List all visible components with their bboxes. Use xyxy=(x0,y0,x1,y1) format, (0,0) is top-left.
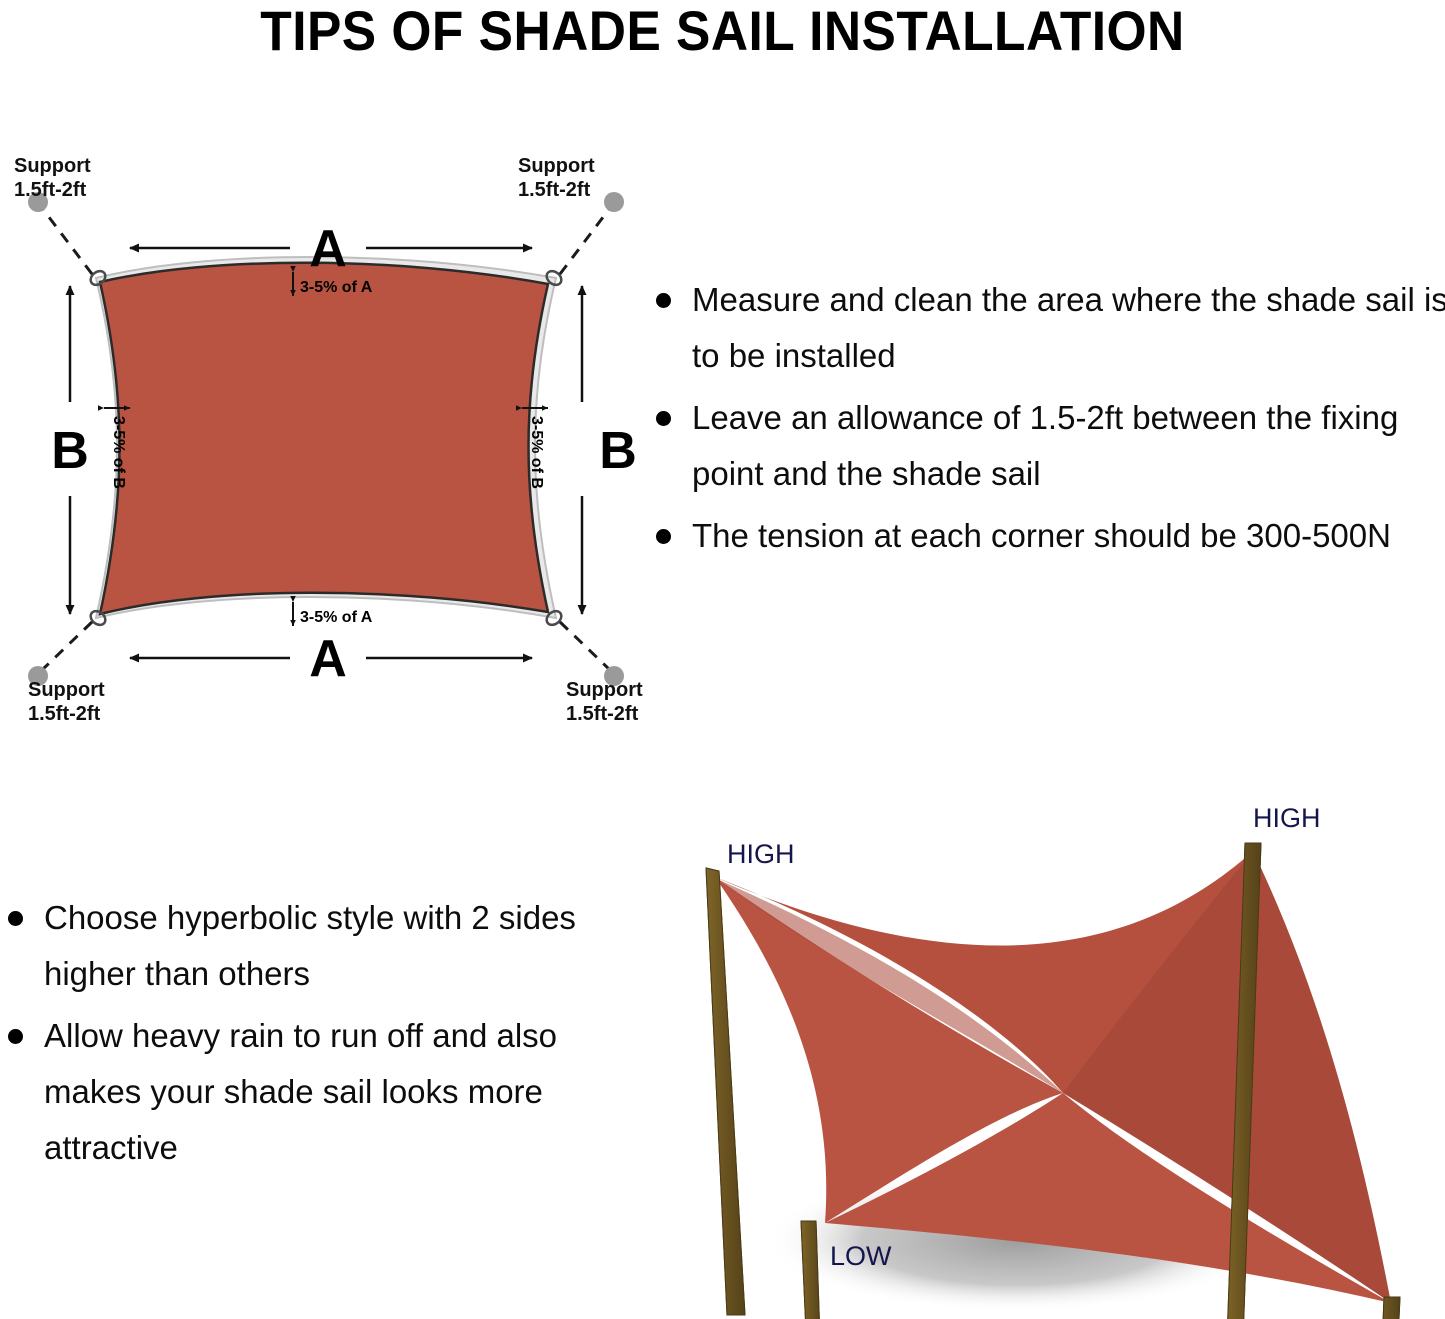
label-high-left: HIGH xyxy=(727,839,795,869)
curve-b-left-annotation: 3-5% of B xyxy=(104,408,130,489)
list-item: Choose hyperbolic style with 2 sides hig… xyxy=(0,890,630,1002)
tips-list-left: Choose hyperbolic style with 2 sides hig… xyxy=(0,890,630,1182)
support-label-line2: 1.5ft-2ft xyxy=(566,703,639,725)
hyperbolic-sail-illustration: HIGH HIGH LOW LOW xyxy=(665,785,1445,1319)
sail-shape xyxy=(96,257,556,618)
tips-list-right: Measure and clean the area where the sha… xyxy=(648,272,1445,570)
dimension-a-bottom-label: A xyxy=(309,630,347,688)
label-low-left: LOW xyxy=(830,1241,892,1271)
support-label-top-left: Support 1.5ft-2ft xyxy=(14,155,91,201)
dimension-a-top-label: A xyxy=(309,220,347,278)
support-dot-top-right xyxy=(604,192,624,212)
post-low-right-front xyxy=(1374,1297,1400,1319)
support-label-top-right: Support 1.5ft-2ft xyxy=(518,155,595,201)
support-label-line1: Support xyxy=(28,679,105,701)
curve-a-bottom-label: 3-5% of A xyxy=(300,609,373,626)
support-label-line2: 1.5ft-2ft xyxy=(28,703,101,725)
dimension-b-left-label: B xyxy=(51,422,89,480)
curve-a-bottom-annotation: 3-5% of A xyxy=(293,602,373,626)
support-label-bottom-left: Support 1.5ft-2ft xyxy=(28,679,105,725)
support-label-bottom-right: Support 1.5ft-2ft xyxy=(566,679,643,725)
support-label-line2: 1.5ft-2ft xyxy=(14,179,87,201)
support-label-line1: Support xyxy=(518,155,595,177)
post-high-left-front xyxy=(706,868,745,1315)
dimension-b-right-label: B xyxy=(599,422,637,480)
shade-sail-dimension-diagram: Support 1.5ft-2ft Support 1.5ft-2ft Supp… xyxy=(0,150,660,730)
list-item: The tension at each corner should be 300… xyxy=(648,508,1445,564)
list-item: Allow heavy rain to run off and also mak… xyxy=(0,1008,630,1176)
page-title: TIPS OF SHADE SAIL INSTALLATION xyxy=(58,0,1387,62)
curve-b-left-label: 3-5% of B xyxy=(110,416,127,489)
list-item: Leave an allowance of 1.5-2ft between th… xyxy=(648,390,1445,502)
support-label-line1: Support xyxy=(14,155,91,177)
curve-a-top-label: 3-5% of A xyxy=(300,279,373,296)
list-item: Measure and clean the area where the sha… xyxy=(648,272,1445,384)
label-high-right: HIGH xyxy=(1253,803,1321,833)
support-label-line2: 1.5ft-2ft xyxy=(518,179,591,201)
curve-b-right-label: 3-5% of B xyxy=(528,416,545,489)
support-label-line1: Support xyxy=(566,679,643,701)
